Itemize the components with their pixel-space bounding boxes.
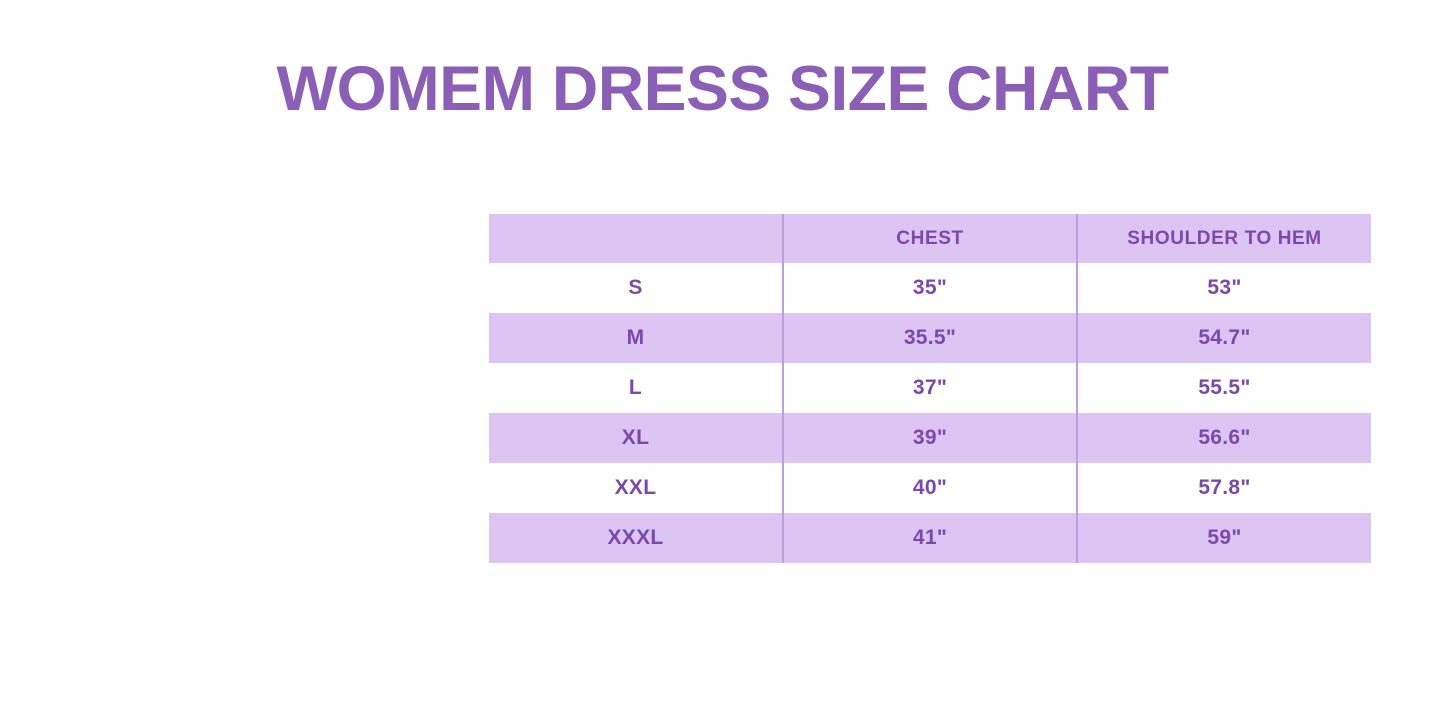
cell-chest: 41"	[783, 513, 1077, 563]
table-row: XXL 40" 57.8"	[489, 463, 1371, 513]
table-body: S 35" 53" M 35.5" 54.7" L 37" 55.5" XL 3…	[489, 263, 1371, 563]
cell-chest: 35"	[783, 263, 1077, 313]
column-header-size	[489, 214, 783, 263]
table-row: M 35.5" 54.7"	[489, 313, 1371, 363]
table-header-row: CHEST SHOULDER TO HEM	[489, 214, 1371, 263]
size-chart-page: WOMEM DRESS SIZE CHART CHEST SHOULDER TO…	[0, 0, 1445, 723]
cell-shoulder-to-hem: 57.8"	[1077, 463, 1371, 513]
table-header: CHEST SHOULDER TO HEM	[489, 214, 1371, 263]
cell-size: XL	[489, 413, 783, 463]
cell-shoulder-to-hem: 59"	[1077, 513, 1371, 563]
table-row: XL 39" 56.6"	[489, 413, 1371, 463]
table-row: XXXL 41" 59"	[489, 513, 1371, 563]
table-row: S 35" 53"	[489, 263, 1371, 313]
cell-shoulder-to-hem: 54.7"	[1077, 313, 1371, 363]
cell-size: M	[489, 313, 783, 363]
cell-chest: 35.5"	[783, 313, 1077, 363]
size-chart-table: CHEST SHOULDER TO HEM S 35" 53" M 35.5" …	[489, 214, 1371, 563]
cell-size: XXL	[489, 463, 783, 513]
page-title: WOMEM DRESS SIZE CHART	[0, 52, 1445, 126]
cell-chest: 40"	[783, 463, 1077, 513]
column-header-chest: CHEST	[783, 214, 1077, 263]
cell-shoulder-to-hem: 56.6"	[1077, 413, 1371, 463]
cell-size: S	[489, 263, 783, 313]
cell-chest: 39"	[783, 413, 1077, 463]
cell-shoulder-to-hem: 53"	[1077, 263, 1371, 313]
column-header-shoulder-to-hem: SHOULDER TO HEM	[1077, 214, 1371, 263]
cell-size: L	[489, 363, 783, 413]
cell-chest: 37"	[783, 363, 1077, 413]
size-chart-table-container: CHEST SHOULDER TO HEM S 35" 53" M 35.5" …	[489, 214, 1371, 563]
cell-shoulder-to-hem: 55.5"	[1077, 363, 1371, 413]
table-row: L 37" 55.5"	[489, 363, 1371, 413]
cell-size: XXXL	[489, 513, 783, 563]
